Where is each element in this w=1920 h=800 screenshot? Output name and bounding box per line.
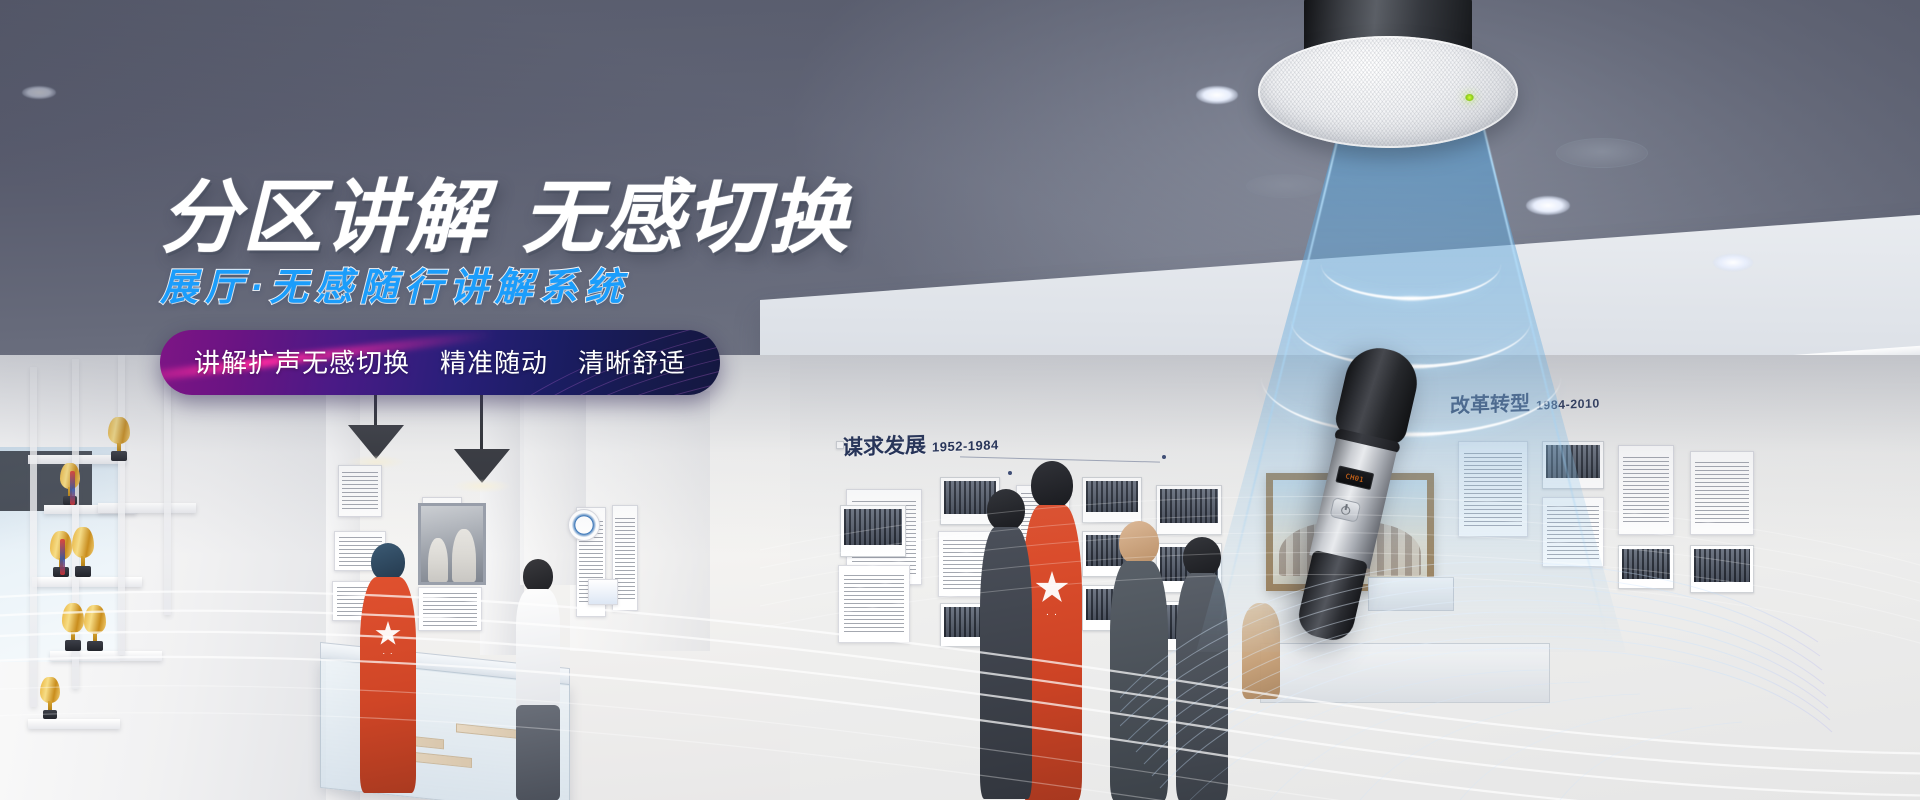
exhibition-hall-photo: · · 谋求发展1952-1984	[0, 355, 1920, 800]
feature-pill: 讲解扩声无感切换精准随动清晰舒适	[160, 330, 720, 395]
banner-headline: 分区讲解无感切换	[160, 178, 1060, 258]
microphone-display-text: CH01	[1345, 472, 1365, 484]
downlight-icon	[1526, 196, 1570, 215]
feature-pill-text: 讲解扩声无感切换精准随动清晰舒适	[194, 343, 686, 380]
headline-part-2: 无感切换	[522, 173, 850, 262]
speaker-rim	[1258, 36, 1518, 148]
ceiling-vent-icon	[1556, 138, 1648, 168]
feature-1: 讲解扩声无感切换	[194, 348, 410, 378]
downlight-icon	[1713, 254, 1753, 271]
microphone-tail	[1295, 550, 1368, 644]
headline-part-1: 分区讲解	[160, 173, 488, 262]
power-icon	[1340, 505, 1351, 516]
downlight-icon	[1196, 86, 1238, 104]
feature-3: 清晰舒适	[578, 348, 686, 378]
room-top-shadow	[0, 355, 1920, 800]
banner-stage: · · 谋求发展1952-1984	[0, 0, 1920, 800]
ceiling-vent-icon	[1246, 174, 1324, 198]
ceiling-speaker	[1258, 0, 1518, 146]
banner-subtitle: 展厅·无感随行讲解系统	[160, 268, 1060, 310]
speaker-status-led	[1465, 94, 1474, 101]
banner-copy: 分区讲解无感切换 展厅·无感随行讲解系统 讲解扩声无感切换精准随动清晰舒适	[160, 178, 1060, 400]
downlight-icon	[22, 86, 56, 99]
feature-2: 精准随动	[440, 348, 548, 378]
